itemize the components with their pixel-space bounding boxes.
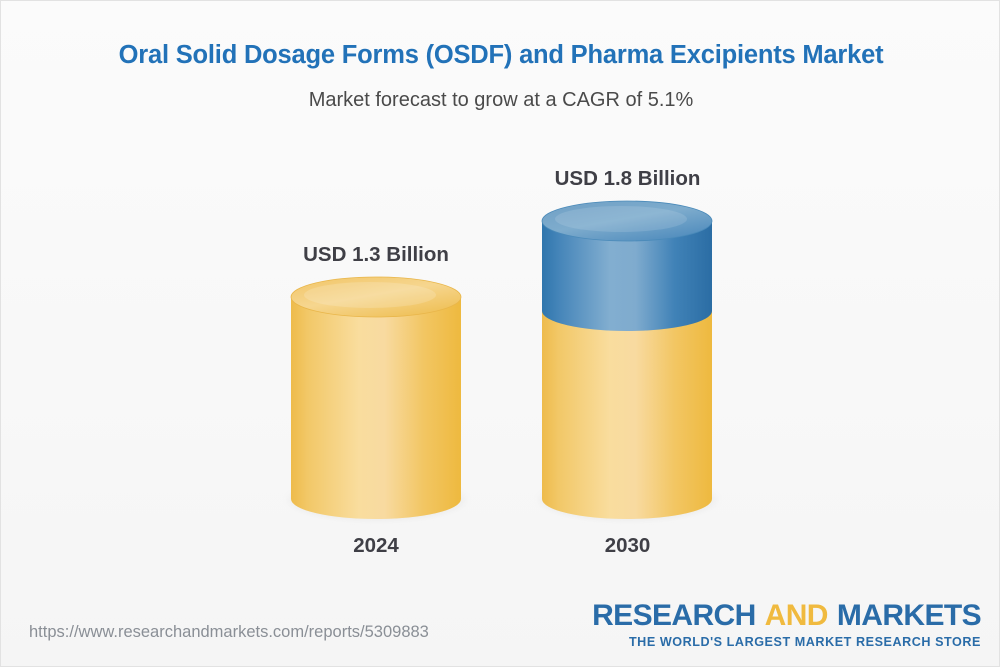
value-label-2024: USD 1.3 Billion xyxy=(291,243,461,267)
report-url[interactable]: https://www.researchandmarkets.com/repor… xyxy=(29,623,429,642)
logo-word-research: RESEARCH xyxy=(592,599,756,632)
chart-plot-area: USD 1.3 Billion USD 1.8 Billion 2024 203… xyxy=(1,1,1000,668)
value-label-2030: USD 1.8 Billion xyxy=(542,167,713,191)
chart-canvas: Oral Solid Dosage Forms (OSDF) and Pharm… xyxy=(0,0,1000,667)
research-and-markets-logo[interactable]: RESEARCHANDMARKETS THE WORLD'S LARGEST M… xyxy=(592,601,981,649)
logo-wordmark: RESEARCHANDMARKETS xyxy=(592,601,981,631)
category-label-2024: 2024 xyxy=(291,534,461,558)
cylinder-2024[interactable] xyxy=(287,275,465,523)
logo-word-and: AND xyxy=(765,599,828,632)
logo-tagline: THE WORLD'S LARGEST MARKET RESEARCH STOR… xyxy=(592,636,981,649)
cylinder-2030[interactable] xyxy=(538,199,716,523)
category-label-2030: 2030 xyxy=(542,534,713,558)
logo-word-markets: MARKETS xyxy=(837,599,981,632)
